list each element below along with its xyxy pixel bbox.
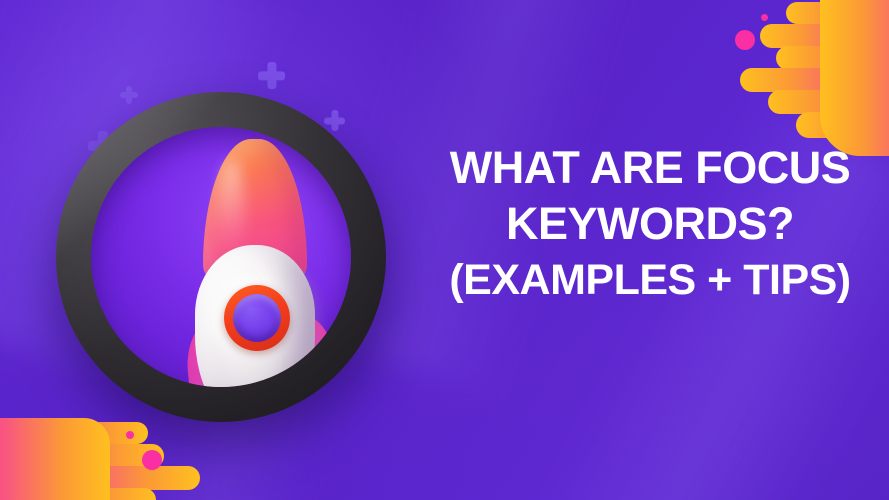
speed-bar-block	[0, 418, 110, 500]
title-line-2: Keywords?	[420, 196, 880, 252]
rocket-icon	[91, 127, 351, 387]
dot-top-right-small	[761, 14, 768, 21]
banner-canvas: What Are Focus Keywords? (Examples + Tip…	[0, 0, 889, 500]
inner-circle	[91, 127, 351, 387]
rocket-badge-illustration	[56, 92, 386, 422]
banner-title: What Are Focus Keywords? (Examples + Tip…	[420, 140, 880, 308]
cross-top-right-large	[258, 62, 285, 89]
rocket-porthole	[233, 294, 281, 342]
porthole-ring	[224, 285, 290, 351]
dot-bottom-left-small	[126, 431, 134, 439]
title-line-1: What Are Focus	[420, 140, 880, 196]
dot-top-right-large	[735, 30, 755, 50]
speed-lines-bottom-left	[0, 414, 170, 500]
speed-lines-top-right	[700, 0, 889, 86]
dot-bottom-left-large	[142, 450, 162, 470]
title-line-3: (Examples + Tips)	[420, 252, 880, 308]
speed-bar-block	[820, 0, 889, 156]
